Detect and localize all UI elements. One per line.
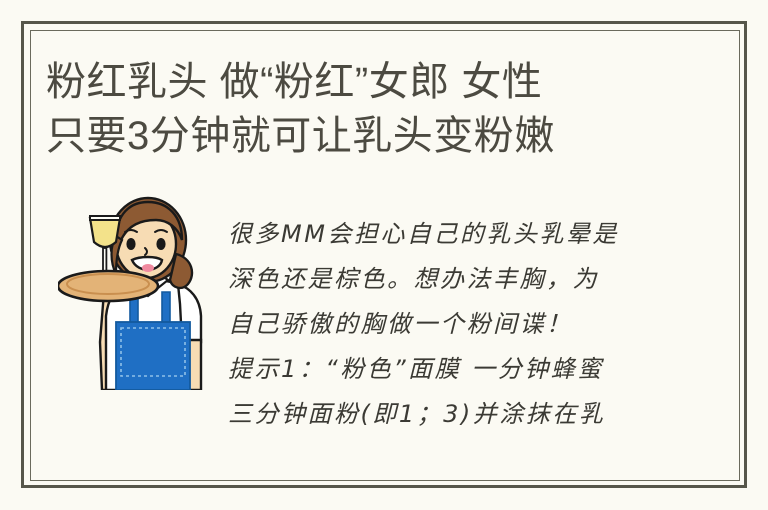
title-line-1: 粉红乳头 做“粉红”女郎 女性	[46, 55, 646, 109]
eye-right	[156, 238, 165, 250]
article-card: 粉红乳头 做“粉红”女郎 女性 只要3分钟就可让乳头变粉嫩	[0, 0, 768, 510]
tongue	[142, 264, 154, 272]
blue-apron	[116, 322, 190, 390]
page-title: 粉红乳头 做“粉红”女郎 女性 只要3分钟就可让乳头变粉嫩	[46, 55, 646, 163]
body-line-3: 自己骄傲的胸做一个粉间谍！	[228, 302, 668, 347]
serving-tray	[58, 271, 158, 301]
article-body: 很多MM会担心自己的乳头乳晕是 深色还是棕色。想办法丰胸，为 自己骄傲的胸做一个…	[228, 212, 668, 437]
wine-glass-bowl	[90, 218, 120, 247]
body-line-5: 三分钟面粉(即1；3)并涂抹在乳	[228, 392, 668, 437]
body-line-1: 很多MM会担心自己的乳头乳晕是	[228, 212, 668, 257]
apron-strap-right	[162, 292, 170, 326]
eye-left	[126, 238, 135, 250]
waitress-illustration	[58, 192, 230, 390]
body-line-4: 提示1：“粉色”面膜 一分钟蜂蜜	[228, 347, 668, 392]
wine-glass-rim	[90, 216, 120, 220]
body-line-2: 深色还是棕色。想办法丰胸，为	[228, 257, 668, 302]
title-line-2: 只要3分钟就可让乳头变粉嫩	[46, 109, 646, 163]
